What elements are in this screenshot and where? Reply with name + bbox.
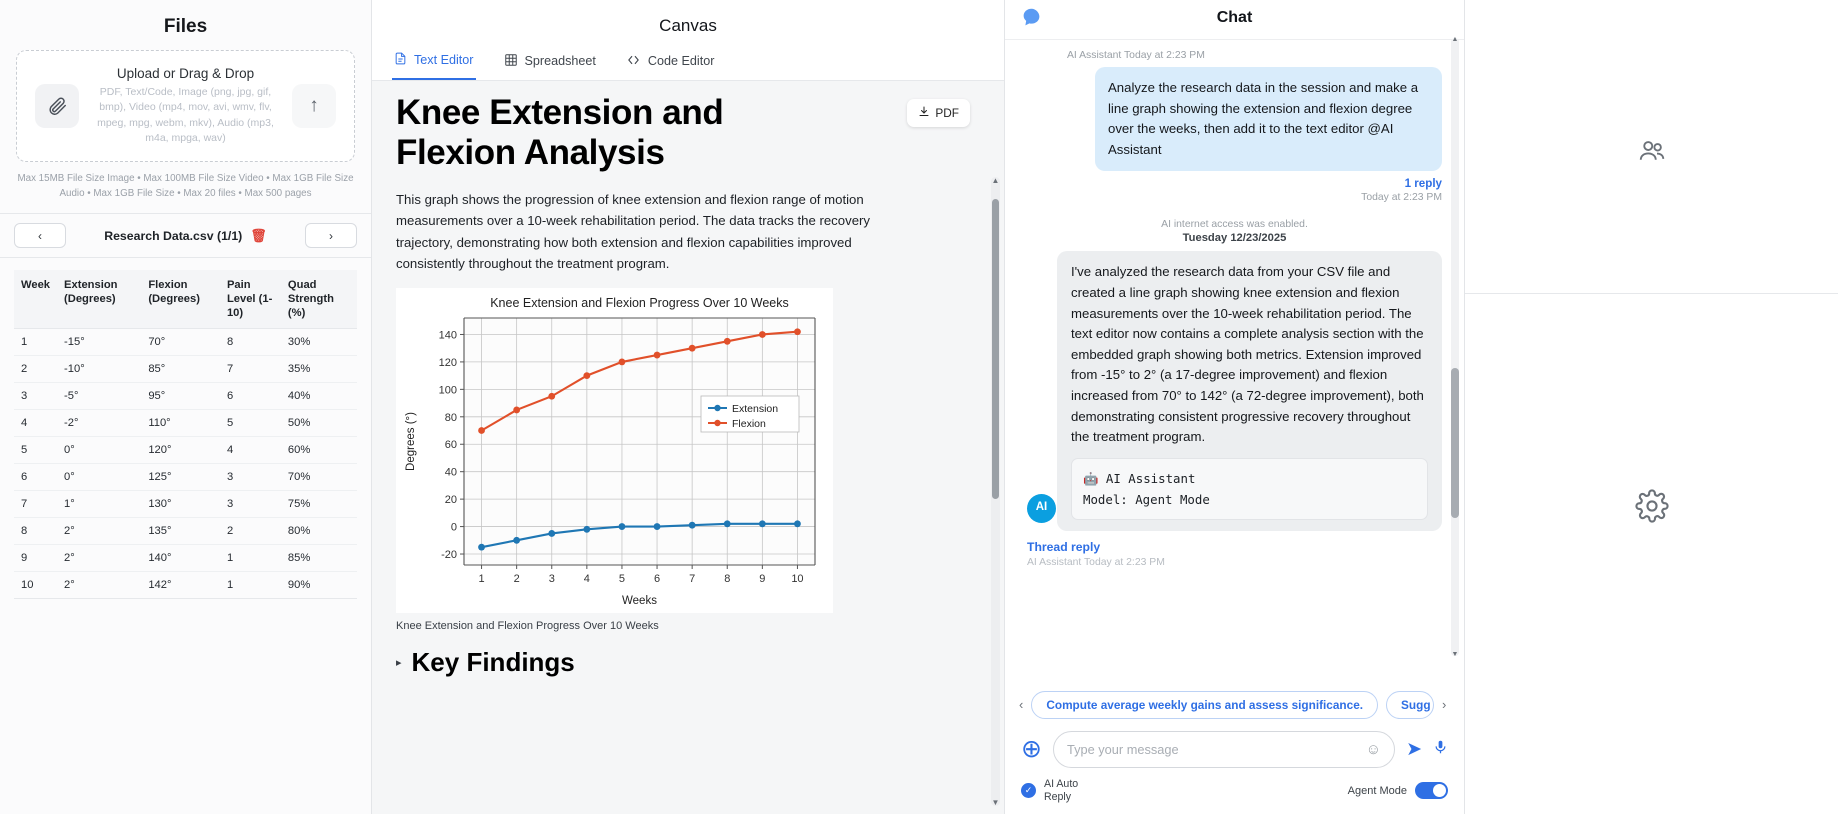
chat-messages[interactable]: AI Assistant Today at 2:23 PM Analyze th… <box>1005 40 1464 685</box>
chat-logo-icon <box>1021 7 1043 29</box>
table-row: 3-5°95°640% <box>14 383 357 410</box>
dropzone-text: Upload or Drag & Drop PDF, Text/Code, Im… <box>79 66 292 146</box>
ai-model-card-model: Model: Agent Mode <box>1083 489 1416 510</box>
chat-scroll-thumb[interactable] <box>1451 368 1459 518</box>
key-findings-section[interactable]: ▸ Key Findings <box>396 647 980 678</box>
table-header-cell: Pain Level (1-10) <box>220 270 281 329</box>
table-row: 102°142°190% <box>14 572 357 599</box>
thread-reply-link[interactable]: Thread reply <box>1027 540 1442 554</box>
table-cell: 5 <box>220 410 281 437</box>
canvas-scrollbar[interactable]: ▲ ▼ <box>991 177 1000 806</box>
right-rail <box>1465 0 1838 814</box>
table-header-cell: Week <box>14 270 57 329</box>
table-cell: 7 <box>14 491 57 518</box>
code-brackets-icon <box>626 53 641 70</box>
chat-scrollbar[interactable]: ▲ ▼ <box>1451 38 1459 656</box>
ai-model-card-name: AI Assistant <box>1106 471 1196 486</box>
table-cell: 4 <box>14 410 57 437</box>
chat-title: Chat <box>1005 9 1464 27</box>
table-cell: 1 <box>220 572 281 599</box>
svg-text:40: 40 <box>445 467 457 479</box>
table-cell: 90% <box>281 572 357 599</box>
line-chart-svg: -2002040608010012014012345678910Knee Ext… <box>396 288 833 613</box>
table-cell: -5° <box>57 383 141 410</box>
table-cell: 142° <box>141 572 220 599</box>
suggestion-chip-1[interactable]: Compute average weekly gains and assess … <box>1031 691 1378 719</box>
export-pdf-label: PDF <box>935 106 959 120</box>
canvas-panel: Canvas Text Editor Spreadsheet Code Edit… <box>372 0 1005 814</box>
prev-file-button[interactable]: ‹ <box>14 223 66 248</box>
svg-text:9: 9 <box>759 573 765 585</box>
canvas-header: Canvas <box>372 0 1004 45</box>
svg-text:-20: -20 <box>441 549 457 561</box>
table-cell: 0° <box>57 437 141 464</box>
table-cell: -2° <box>57 410 141 437</box>
table-cell: 3 <box>220 464 281 491</box>
table-header-cell: Quad Strength (%) <box>281 270 357 329</box>
checkmark-icon[interactable]: ✓ <box>1021 783 1036 798</box>
app-root: Files Upload or Drag & Drop PDF, Text/Co… <box>0 0 1838 814</box>
paperclip-icon[interactable] <box>35 84 79 128</box>
table-cell: 2° <box>57 572 141 599</box>
reply-count[interactable]: 1 reply <box>1027 177 1442 190</box>
table-cell: 70° <box>141 329 220 356</box>
file-name-label: Research Data.csv (1/1) <box>104 229 242 243</box>
table-cell: 80% <box>281 518 357 545</box>
document-area: PDF Knee Extension and Flexion Analysis … <box>372 81 1004 814</box>
csv-table: WeekExtension (Degrees)Flexion (Degrees)… <box>14 270 357 599</box>
thread-reply-meta: AI Assistant Today at 2:23 PM <box>1027 557 1442 568</box>
dropzone-subtext: PDF, Text/Code, Image (png, jpg, gif, bm… <box>85 85 286 146</box>
agent-mode-toggle[interactable]: Agent Mode <box>1348 782 1448 799</box>
table-row: 2-10°85°735% <box>14 356 357 383</box>
canvas-tabs: Text Editor Spreadsheet Code Editor <box>372 45 1004 81</box>
table-cell: 85° <box>141 356 220 383</box>
table-row: 60°125°370% <box>14 464 357 491</box>
suggestions-row: ‹ Compute average weekly gains and asses… <box>1005 685 1464 727</box>
chat-scroll-track[interactable] <box>1451 38 1459 656</box>
svg-text:Weeks: Weeks <box>622 595 657 607</box>
file-nav: ‹ Research Data.csv (1/1) 🗑 › <box>0 214 371 258</box>
ai-auto-reply-toggle[interactable]: ✓ AI Auto Reply <box>1021 778 1106 804</box>
svg-text:4: 4 <box>584 573 590 585</box>
dropzone-heading: Upload or Drag & Drop <box>85 66 286 81</box>
table-cell: 1 <box>220 545 281 572</box>
agent-mode-label: Agent Mode <box>1348 785 1407 797</box>
ai-model-card: 🤖 AI Assistant Model: Agent Mode <box>1071 458 1428 520</box>
table-cell: 2 <box>220 518 281 545</box>
tab-spreadsheet[interactable]: Spreadsheet <box>502 45 598 80</box>
user-message-bubble: Analyze the research data in the session… <box>1095 67 1442 171</box>
table-cell: 2° <box>57 518 141 545</box>
table-cell: 50% <box>281 410 357 437</box>
gear-icon[interactable] <box>1465 489 1838 523</box>
chevron-right-icon[interactable]: ▸ <box>396 656 402 669</box>
tab-spreadsheet-label: Spreadsheet <box>525 54 596 68</box>
svg-text:2: 2 <box>514 573 520 585</box>
svg-text:80: 80 <box>445 412 457 424</box>
chart-caption: Knee Extension and Flexion Progress Over… <box>396 620 980 632</box>
chat-panel: Chat AI Assistant Today at 2:23 PM Analy… <box>1005 0 1465 814</box>
send-icon[interactable]: ➤ <box>1406 738 1422 761</box>
table-cell: 9 <box>14 545 57 572</box>
tab-code-editor[interactable]: Code Editor <box>624 45 717 80</box>
ai-auto-reply-label: AI Auto Reply <box>1044 778 1106 804</box>
table-cell: 8 <box>220 329 281 356</box>
table-cell: 1 <box>14 329 57 356</box>
table-cell: 95° <box>141 383 220 410</box>
plus-circle-icon[interactable]: ⊕ <box>1021 737 1042 762</box>
key-findings-heading: Key Findings <box>412 647 575 678</box>
table-cell: 8 <box>14 518 57 545</box>
embedded-chart: -2002040608010012014012345678910Knee Ext… <box>396 288 833 613</box>
svg-text:8: 8 <box>724 573 730 585</box>
table-cell: 30% <box>281 329 357 356</box>
table-cell: 3 <box>220 491 281 518</box>
message-input-wrap[interactable]: ☺ <box>1053 731 1395 768</box>
table-row: 71°130°375% <box>14 491 357 518</box>
table-cell: 110° <box>141 410 220 437</box>
svg-text:120: 120 <box>439 357 457 369</box>
chat-composer: ⊕ ☺ ➤ <box>1005 727 1464 776</box>
table-cell: 2 <box>14 356 57 383</box>
current-file-name: Research Data.csv (1/1) 🗑 <box>104 228 267 244</box>
table-cell: 2° <box>57 545 141 572</box>
agent-mode-switch[interactable] <box>1415 782 1448 799</box>
table-cell: 75% <box>281 491 357 518</box>
svg-text:140: 140 <box>439 330 457 342</box>
table-cell: 3 <box>14 383 57 410</box>
rail-divider <box>1465 293 1838 294</box>
svg-text:Degrees (°): Degrees (°) <box>405 412 417 471</box>
table-cell: 70% <box>281 464 357 491</box>
trash-icon[interactable]: 🗑 <box>250 228 267 244</box>
table-cell: 60% <box>281 437 357 464</box>
table-cell: 35% <box>281 356 357 383</box>
svg-text:Flexion: Flexion <box>732 418 766 430</box>
svg-text:60: 60 <box>445 440 457 452</box>
file-limits-text: Max 15MB File Size Image • Max 100MB Fil… <box>0 162 371 214</box>
chat-footer: ✓ AI Auto Reply Agent Mode <box>1005 776 1464 814</box>
reply-timestamp: Today at 2:23 PM <box>1027 192 1442 203</box>
chat-header: Chat <box>1005 0 1464 40</box>
table-cell: 6 <box>220 383 281 410</box>
svg-text:Extension: Extension <box>732 403 778 415</box>
table-cell: 40% <box>281 383 357 410</box>
svg-text:1: 1 <box>478 573 484 585</box>
next-file-button[interactable]: › <box>305 223 357 248</box>
table-row: 4-2°110°550% <box>14 410 357 437</box>
table-cell: 0° <box>57 464 141 491</box>
people-icon[interactable] <box>1465 136 1838 166</box>
table-cell: 1° <box>57 491 141 518</box>
table-cell: 140° <box>141 545 220 572</box>
svg-text:100: 100 <box>439 385 457 397</box>
tab-text-editor-label: Text Editor <box>414 53 474 67</box>
table-row: 82°135°280% <box>14 518 357 545</box>
canvas-title: Canvas <box>372 16 1004 36</box>
svg-text:7: 7 <box>689 573 695 585</box>
table-cell: 120° <box>141 437 220 464</box>
arrow-up-icon[interactable]: ↑ <box>292 84 336 128</box>
date-divider: Tuesday 12/23/2025 <box>1027 232 1442 244</box>
avatar: AI <box>1027 494 1056 523</box>
export-pdf-button[interactable]: PDF <box>907 99 970 127</box>
svg-text:5: 5 <box>619 573 625 585</box>
svg-text:6: 6 <box>654 573 660 585</box>
scroll-up-arrow[interactable]: ▲ <box>991 176 1000 185</box>
ai-message-bubble: I've analyzed the research data from you… <box>1057 251 1442 531</box>
document-paragraph: This graph shows the progression of knee… <box>396 189 896 275</box>
table-cell: 4 <box>220 437 281 464</box>
user-message-meta: AI Assistant Today at 2:23 PM <box>1027 50 1442 61</box>
table-cell: 130° <box>141 491 220 518</box>
robot-icon: 🤖 <box>1083 471 1098 486</box>
grid-icon <box>504 53 518 70</box>
chevron-right-icon[interactable]: › <box>1442 697 1446 712</box>
table-cell: -15° <box>57 329 141 356</box>
document-icon <box>394 51 407 69</box>
table-cell: 5 <box>14 437 57 464</box>
table-cell: 125° <box>141 464 220 491</box>
canvas-scroll-thumb[interactable] <box>992 199 999 499</box>
ai-message-text: I've analyzed the research data from you… <box>1071 264 1424 444</box>
svg-text:20: 20 <box>445 494 457 506</box>
chevron-left-icon[interactable]: ‹ <box>1019 697 1023 712</box>
agent-mode-knob <box>1433 784 1446 797</box>
svg-text:3: 3 <box>549 573 555 585</box>
chat-scroll-up-arrow[interactable]: ▲ <box>1451 36 1459 43</box>
csv-table-wrap: WeekExtension (Degrees)Flexion (Degrees)… <box>0 258 371 599</box>
svg-text:Knee Extension and Flexion Pro: Knee Extension and Flexion Progress Over… <box>490 296 789 310</box>
smiley-icon[interactable]: ☺ <box>1366 741 1381 758</box>
table-cell: 135° <box>141 518 220 545</box>
table-row: 50°120°460% <box>14 437 357 464</box>
page-title: Knee Extension and Flexion Analysis <box>396 93 826 173</box>
table-header-row: WeekExtension (Degrees)Flexion (Degrees)… <box>14 270 357 329</box>
svg-text:0: 0 <box>451 522 457 534</box>
chat-scroll-down-arrow[interactable]: ▼ <box>1451 651 1459 658</box>
file-dropzone[interactable]: Upload or Drag & Drop PDF, Text/Code, Im… <box>16 50 355 162</box>
microphone-icon[interactable] <box>1433 738 1448 761</box>
table-row: 1-15°70°830% <box>14 329 357 356</box>
tab-text-editor[interactable]: Text Editor <box>392 45 476 80</box>
files-panel-title: Files <box>0 0 371 50</box>
svg-text:10: 10 <box>791 573 803 585</box>
table-header-cell: Flexion (Degrees) <box>141 270 220 329</box>
message-input[interactable] <box>1067 742 1358 757</box>
table-cell: 10 <box>14 572 57 599</box>
files-panel: Files Upload or Drag & Drop PDF, Text/Co… <box>0 0 372 814</box>
table-header-cell: Extension (Degrees) <box>57 270 141 329</box>
table-cell: 7 <box>220 356 281 383</box>
tab-code-editor-label: Code Editor <box>648 54 715 68</box>
table-row: 92°140°185% <box>14 545 357 572</box>
table-cell: 85% <box>281 545 357 572</box>
table-cell: -10° <box>57 356 141 383</box>
suggestion-chip-2[interactable]: Sugg <box>1386 691 1434 719</box>
system-note: AI internet access was enabled. <box>1027 219 1442 230</box>
scroll-down-arrow[interactable]: ▼ <box>991 798 1000 807</box>
download-icon <box>918 105 930 121</box>
table-cell: 6 <box>14 464 57 491</box>
ai-model-card-name-row: 🤖 AI Assistant <box>1083 468 1416 489</box>
